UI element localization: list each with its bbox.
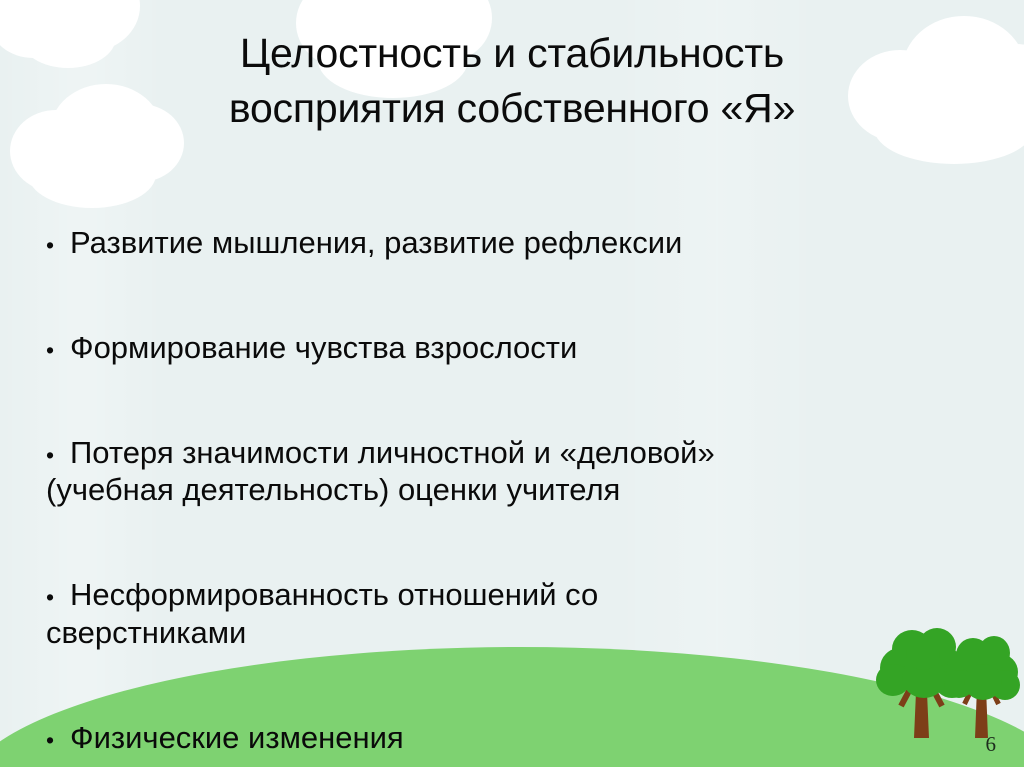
bullet-item: •Несформированность отношений со сверстн…	[46, 539, 976, 652]
bullet-marker-icon: •	[46, 442, 70, 470]
bullet-marker-icon: •	[46, 584, 70, 612]
bullet-text: Физические изменения	[70, 720, 404, 755]
bullet-text: Потеря значимости личностной и «деловой»…	[46, 435, 715, 508]
bullet-text: Несформированность отношений со сверстни…	[46, 577, 598, 650]
bullet-item: •Физические изменения	[46, 681, 976, 756]
bullet-item: •Развитие мышления, развитие рефлексии	[46, 186, 976, 261]
bullet-text: Развитие мышления, развитие рефлексии	[70, 225, 682, 260]
bullet-list: •Развитие мышления, развитие рефлексии •…	[46, 186, 976, 767]
bullet-marker-icon: •	[46, 727, 70, 755]
bullet-text: Формирование чувства взрослости	[70, 330, 577, 365]
slide-canvas: Целостность и стабильность восприятия со…	[0, 0, 1024, 767]
bullet-marker-icon: •	[46, 337, 70, 365]
bullet-item: •Потеря значимости личностной и «деловой…	[46, 396, 976, 509]
page-number: 6	[986, 732, 997, 757]
slide-title: Целостность и стабильность восприятия со…	[60, 26, 964, 136]
bullet-marker-icon: •	[46, 232, 70, 260]
bullet-item: •Формирование чувства взрослости	[46, 291, 976, 366]
